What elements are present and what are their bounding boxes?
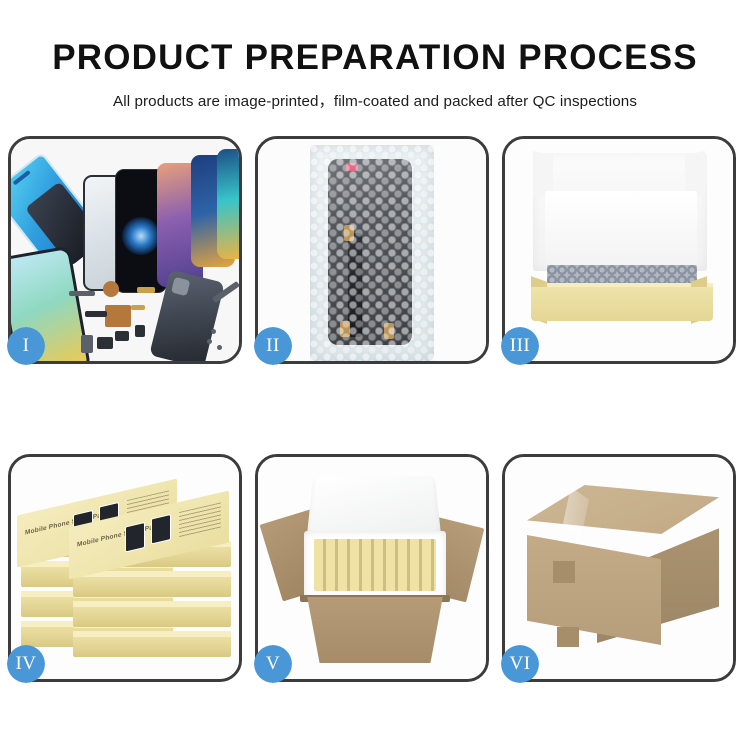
page-title: PRODUCT PREPARATION PROCESS	[0, 38, 750, 78]
flex-cable-icon	[85, 311, 107, 317]
screw-icon	[217, 345, 222, 350]
carton-front	[298, 597, 452, 663]
carton-seam-tab	[557, 627, 579, 647]
yellow-box-front	[531, 287, 713, 321]
product-preparation-page: PRODUCT PREPARATION PROCESS All products…	[0, 0, 750, 750]
step-badge-4: IV	[7, 645, 45, 683]
header: PRODUCT PREPARATION PROCESS All products…	[0, 0, 750, 111]
box-brand-label: Mobile Phone Spare Parts	[77, 522, 162, 549]
foam-lid-icon	[307, 476, 442, 539]
box-stack: Mobile Phone Spare Parts Mobile Phone Sp…	[17, 475, 235, 671]
step-6-image	[505, 457, 733, 679]
foam-sheet-icon	[545, 191, 697, 267]
step-badge-1: I	[7, 327, 45, 365]
process-step-6[interactable]: VI	[502, 454, 736, 682]
bubble-texture	[310, 145, 434, 361]
tray-part-icon	[81, 335, 93, 353]
gold-strip-icon	[131, 305, 145, 310]
process-step-4[interactable]: Mobile Phone Spare Parts Mobile Phone Sp…	[8, 454, 242, 682]
step-4-image: Mobile Phone Spare Parts Mobile Phone Sp…	[11, 457, 239, 679]
process-step-3[interactable]: III	[502, 136, 736, 364]
step-badge-6: VI	[501, 645, 539, 683]
step-badge-2: II	[254, 327, 292, 365]
process-step-2[interactable]: II	[255, 136, 489, 364]
screw-icon	[207, 339, 212, 344]
step-2-image	[258, 139, 486, 361]
screw-icon	[211, 329, 216, 334]
carton-front	[527, 535, 661, 645]
process-grid: I II	[8, 136, 742, 682]
small-part-icon	[135, 325, 145, 337]
step-3-image	[505, 139, 733, 361]
process-step-1[interactable]: I	[8, 136, 242, 364]
chip-part-icon	[105, 305, 131, 327]
sealed-carton	[527, 485, 719, 649]
bar-part-icon	[69, 291, 95, 296]
motor-part-icon	[97, 337, 113, 349]
screen-print-icon	[125, 522, 145, 553]
button-part-icon	[115, 331, 129, 341]
bubble-bag	[310, 145, 434, 361]
page-subtitle: All products are image-printed，film-coat…	[0, 89, 750, 111]
speaker-part-icon	[103, 281, 119, 297]
gold-flex-icon	[137, 287, 155, 293]
process-step-5[interactable]: V	[255, 454, 489, 682]
carton-seam-tab	[553, 561, 575, 583]
spec-list-print	[179, 502, 221, 538]
screen-print-icon	[151, 514, 171, 545]
step-badge-5: V	[254, 645, 292, 683]
step-1-image	[11, 139, 239, 361]
packed-boxes-icon	[314, 539, 436, 591]
step-badge-3: III	[501, 327, 539, 365]
step-5-image	[258, 457, 486, 679]
teal-phone-icon	[217, 149, 239, 259]
